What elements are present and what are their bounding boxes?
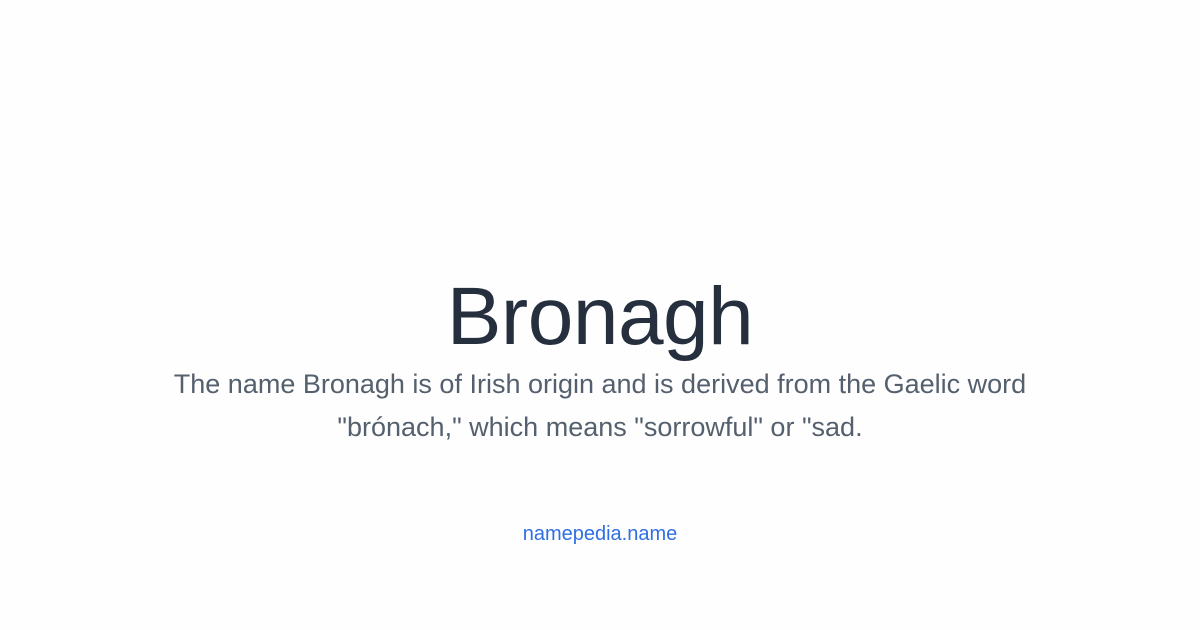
page-title: Bronagh bbox=[0, 269, 1200, 365]
name-description: The name Bronagh is of Irish origin and … bbox=[155, 363, 1045, 449]
source-site-link[interactable]: namepedia.name bbox=[0, 521, 1200, 547]
name-meaning-card: Bronagh The name Bronagh is of Irish ori… bbox=[0, 0, 1200, 630]
